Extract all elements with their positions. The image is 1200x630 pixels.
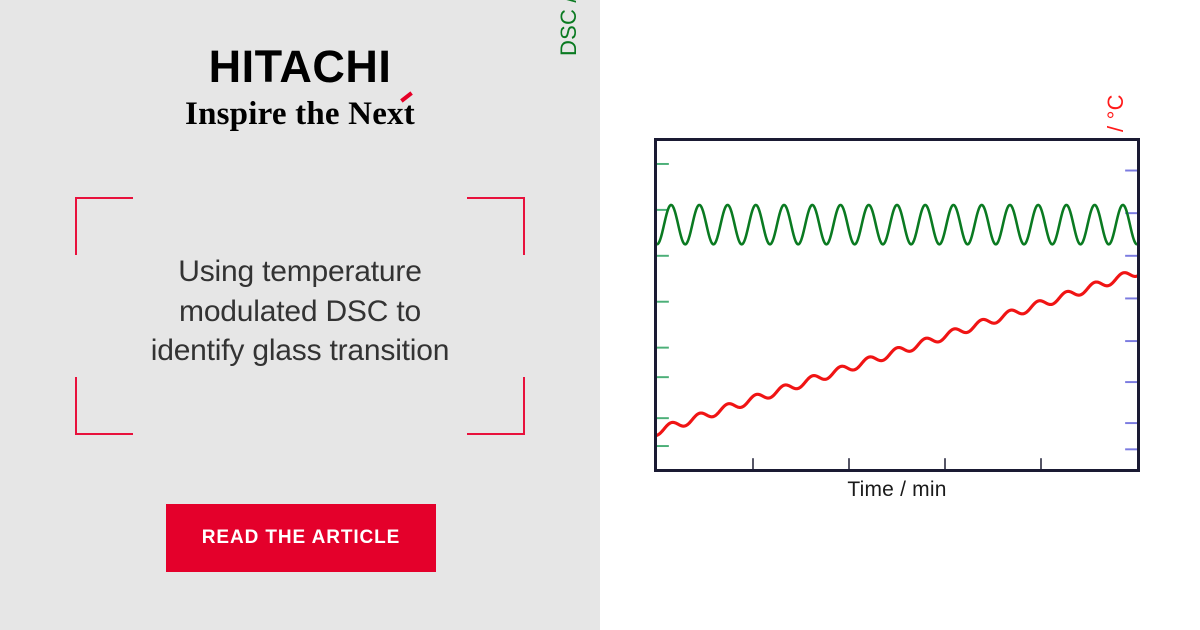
y-axis-left-title-text: DSC / mW: [556, 0, 581, 56]
logo-wordmark: HITACHI: [0, 44, 600, 89]
logo-tagline-text: Inspire the Next: [185, 96, 415, 132]
x-axis-title: Time / min: [654, 478, 1140, 502]
page-title: Using temperature modulated DSC to ident…: [135, 252, 465, 371]
dsc-signal-line: [657, 205, 1137, 244]
bracket-frame: Using temperature modulated DSC to ident…: [75, 197, 525, 435]
x-axis-ticks: [753, 458, 1041, 469]
plot-frame: [654, 138, 1140, 472]
plot-canvas: [657, 141, 1137, 469]
y-axis-left-ticks: [657, 164, 669, 446]
temperature-signal-line: [657, 273, 1137, 436]
left-content-panel: HITACHI Inspire the Next Using temperatu…: [0, 0, 600, 630]
promo-banner: HITACHI Inspire the Next Using temperatu…: [0, 0, 1200, 630]
bracket-bottom-right-icon: [467, 377, 525, 435]
right-chart-panel: DSC / mW Temperature / °C Time / min: [600, 0, 1200, 630]
hitachi-logo: HITACHI Inspire the Next: [0, 44, 600, 131]
bracket-top-right-icon: [467, 197, 525, 255]
y-axis-left-title: DSC / mW: [556, 0, 580, 56]
bracket-top-left-icon: [75, 197, 133, 255]
bracket-bottom-left-icon: [75, 377, 133, 435]
dsc-chart: DSC / mW Temperature / °C Time / min: [600, 0, 1200, 630]
read-the-article-button[interactable]: READ THE ARTICLE: [166, 504, 436, 572]
logo-tagline-wrapper: Inspire the Next: [185, 98, 415, 131]
